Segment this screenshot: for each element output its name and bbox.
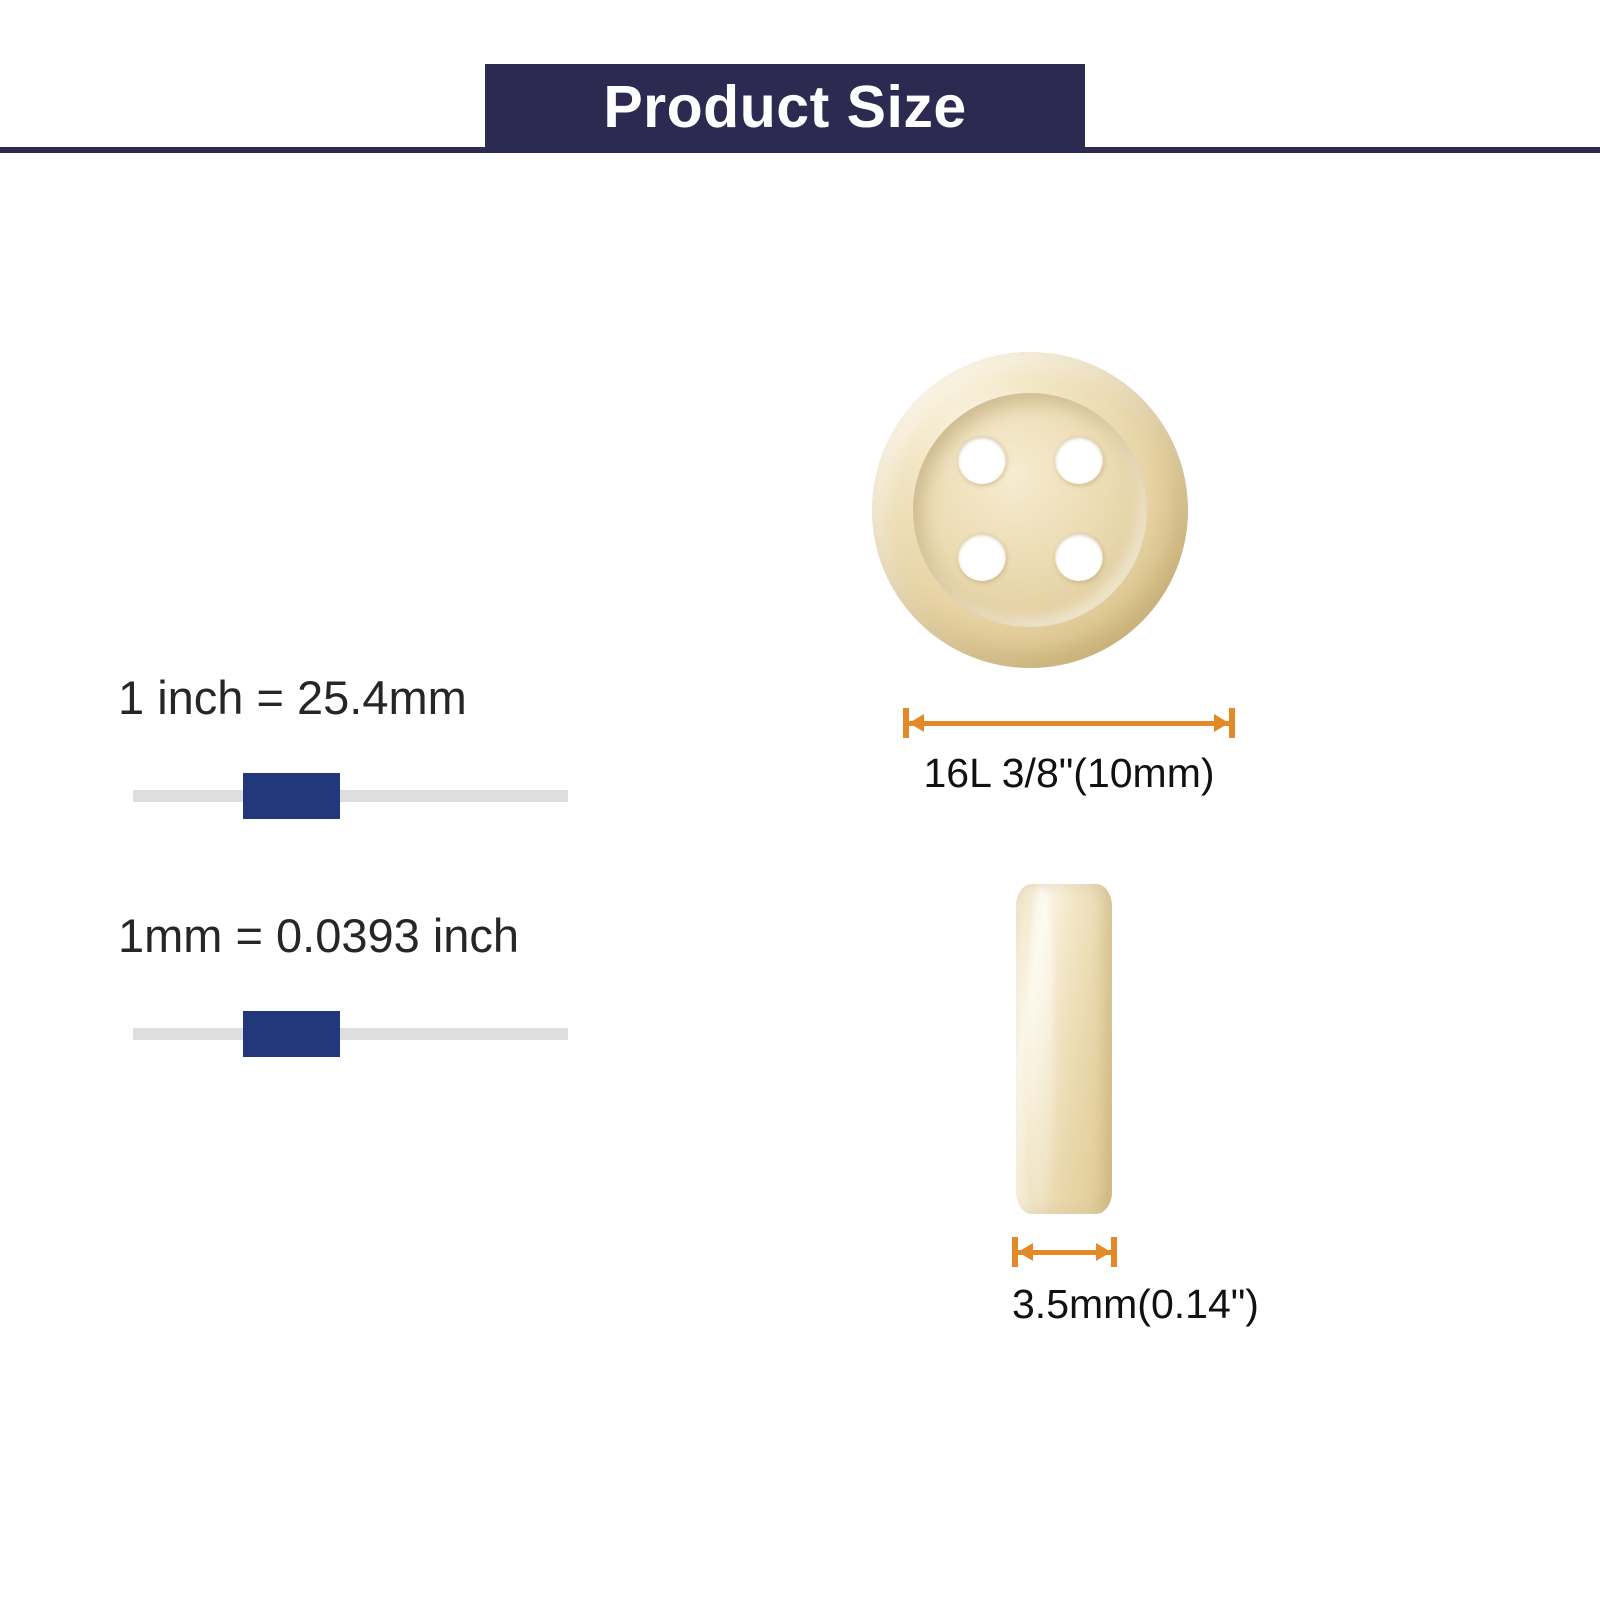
button-hole-top-left xyxy=(958,436,1006,484)
scale-slider-mm-to-inch[interactable] xyxy=(118,1006,568,1062)
dimension-thickness: 3.5mm(0.14") xyxy=(1012,1237,1117,1328)
arrow-head-right-icon xyxy=(1096,1243,1111,1261)
dimension-arrow-thickness xyxy=(1012,1237,1117,1267)
button-body-side xyxy=(1016,884,1112,1214)
dimension-arrow-width xyxy=(903,708,1235,738)
scale-slider-inch-to-mm[interactable] xyxy=(118,768,568,824)
dimension-shaft xyxy=(909,721,1229,726)
slider-track xyxy=(133,1028,568,1040)
dimension-caption-width: 16L 3/8"(10mm) xyxy=(903,750,1235,797)
page-title: Product Size xyxy=(603,78,966,137)
dimension-caption-thickness: 3.5mm(0.14") xyxy=(1012,1281,1117,1328)
button-side-view xyxy=(1016,884,1112,1214)
arrow-head-left-icon xyxy=(1018,1243,1033,1261)
button-front-view xyxy=(872,352,1188,668)
slider-track xyxy=(133,790,568,802)
dimension-endcap-right xyxy=(1229,708,1235,738)
conversion-block-mm-to-inch: 1mm = 0.0393 inch xyxy=(118,910,568,1062)
header-banner: Product Size xyxy=(485,64,1085,150)
conversion-block-inch-to-mm: 1 inch = 25.4mm xyxy=(118,672,568,824)
button-hole-bottom-left xyxy=(958,533,1006,581)
slider-thumb[interactable] xyxy=(243,773,340,819)
slider-thumb[interactable] xyxy=(243,1011,340,1057)
dimension-endcap-right xyxy=(1111,1237,1117,1267)
conversion-label-mm-to-inch: 1mm = 0.0393 inch xyxy=(118,910,568,962)
dimension-width: 16L 3/8"(10mm) xyxy=(903,708,1235,797)
arrow-head-right-icon xyxy=(1214,714,1229,732)
conversion-label-inch-to-mm: 1 inch = 25.4mm xyxy=(118,672,568,724)
arrow-head-left-icon xyxy=(909,714,924,732)
button-hole-top-right xyxy=(1055,436,1103,484)
button-hole-bottom-right xyxy=(1055,533,1103,581)
button-holes-group xyxy=(872,352,1188,668)
